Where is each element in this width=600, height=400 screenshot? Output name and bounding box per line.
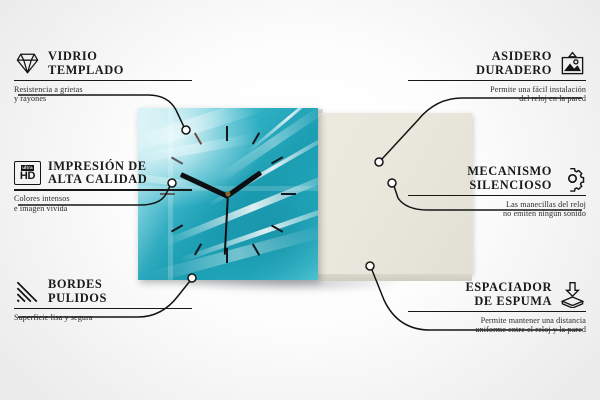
title-line-2: DURADERO: [476, 63, 552, 77]
feature-description: Resistencia a grietas y rayones: [14, 85, 192, 104]
title-line-1: IMPRESIÓN DE: [48, 159, 147, 173]
divider: [14, 80, 192, 82]
arrow-down-onto-pad-icon: [559, 281, 586, 308]
desc-line-1: Resistencia a grietas: [14, 85, 83, 94]
infographic-canvas: VIDRIO TEMPLADO Resistencia a grietas y …: [0, 0, 600, 400]
feature-tempered-glass: VIDRIO TEMPLADO Resistencia a grietas y …: [14, 50, 192, 104]
title-line-2: PULIDOS: [48, 291, 107, 305]
hanging-picture-icon: [559, 50, 586, 77]
desc-line-1: Superficie lisa y segura: [14, 313, 93, 322]
divider: [408, 195, 586, 197]
desc-line-2: e imagen vívida: [14, 204, 68, 213]
desc-line-1: Permite mantener una distancia: [481, 316, 586, 325]
feature-title: VIDRIO TEMPLADO: [48, 50, 124, 77]
divider: [14, 308, 192, 310]
feature-foam-spacer: ESPACIADOR DE ESPUMA Permite mantener un…: [408, 281, 586, 335]
desc-line-2: no emiten ningún sonido: [503, 209, 586, 218]
desc-line-2: del reloj en la pared: [519, 94, 586, 103]
desc-line-1: Colores intensos: [14, 194, 70, 203]
title-line-1: BORDES: [48, 277, 102, 291]
ultra-hd-icon: ultra HD: [14, 161, 41, 185]
diamond-icon: [14, 50, 41, 77]
feature-description: Permite mantener una distancia uniforme …: [408, 316, 586, 335]
feature-title: ESPACIADOR DE ESPUMA: [465, 281, 552, 308]
title-line-2: TEMPLADO: [48, 63, 124, 77]
title-line-2: SILENCIOSO: [469, 178, 552, 192]
divider: [408, 311, 586, 313]
desc-line-1: Permite una fácil instalación: [490, 85, 586, 94]
feature-durable-hanger: ASIDERO DURADERO Permite una fácil insta…: [408, 50, 586, 104]
diagonal-lines-icon: [14, 278, 41, 305]
title-line-1: VIDRIO: [48, 49, 97, 63]
feature-polished-edges: BORDES PULIDOS Superficie lisa y segura: [14, 278, 192, 322]
title-line-2: ALTA CALIDAD: [48, 172, 147, 186]
title-line-1: ESPACIADOR: [465, 280, 552, 294]
feature-silent-mechanism: MECANISMO SILENCIOSO Las manecillas del …: [408, 165, 586, 219]
feature-description: Permite una fácil instalación del reloj …: [408, 85, 586, 104]
divider: [408, 80, 586, 82]
feature-title: MECANISMO SILENCIOSO: [467, 165, 552, 192]
feature-title: BORDES PULIDOS: [48, 278, 107, 305]
gear-icon: [559, 165, 586, 192]
title-line-2: DE ESPUMA: [474, 294, 552, 308]
feature-title: ASIDERO DURADERO: [476, 50, 552, 77]
feature-description: Las manecillas del reloj no emiten ningú…: [408, 200, 586, 219]
desc-line-2: uniforme entre el reloj y la pared: [475, 325, 586, 334]
divider: [14, 189, 192, 191]
ultra-hd-badge-main: HD: [20, 171, 35, 182]
feature-description: Colores intensos e imagen vívida: [14, 194, 192, 213]
title-line-1: MECANISMO: [467, 164, 552, 178]
feature-hd-print: ultra HD IMPRESIÓN DE ALTA CALIDAD Color…: [14, 160, 192, 214]
feature-description: Superficie lisa y segura: [14, 313, 192, 323]
desc-line-2: y rayones: [14, 94, 46, 103]
feature-title: IMPRESIÓN DE ALTA CALIDAD: [48, 160, 147, 187]
title-line-1: ASIDERO: [492, 49, 552, 63]
desc-line-1: Las manecillas del reloj: [506, 200, 586, 209]
